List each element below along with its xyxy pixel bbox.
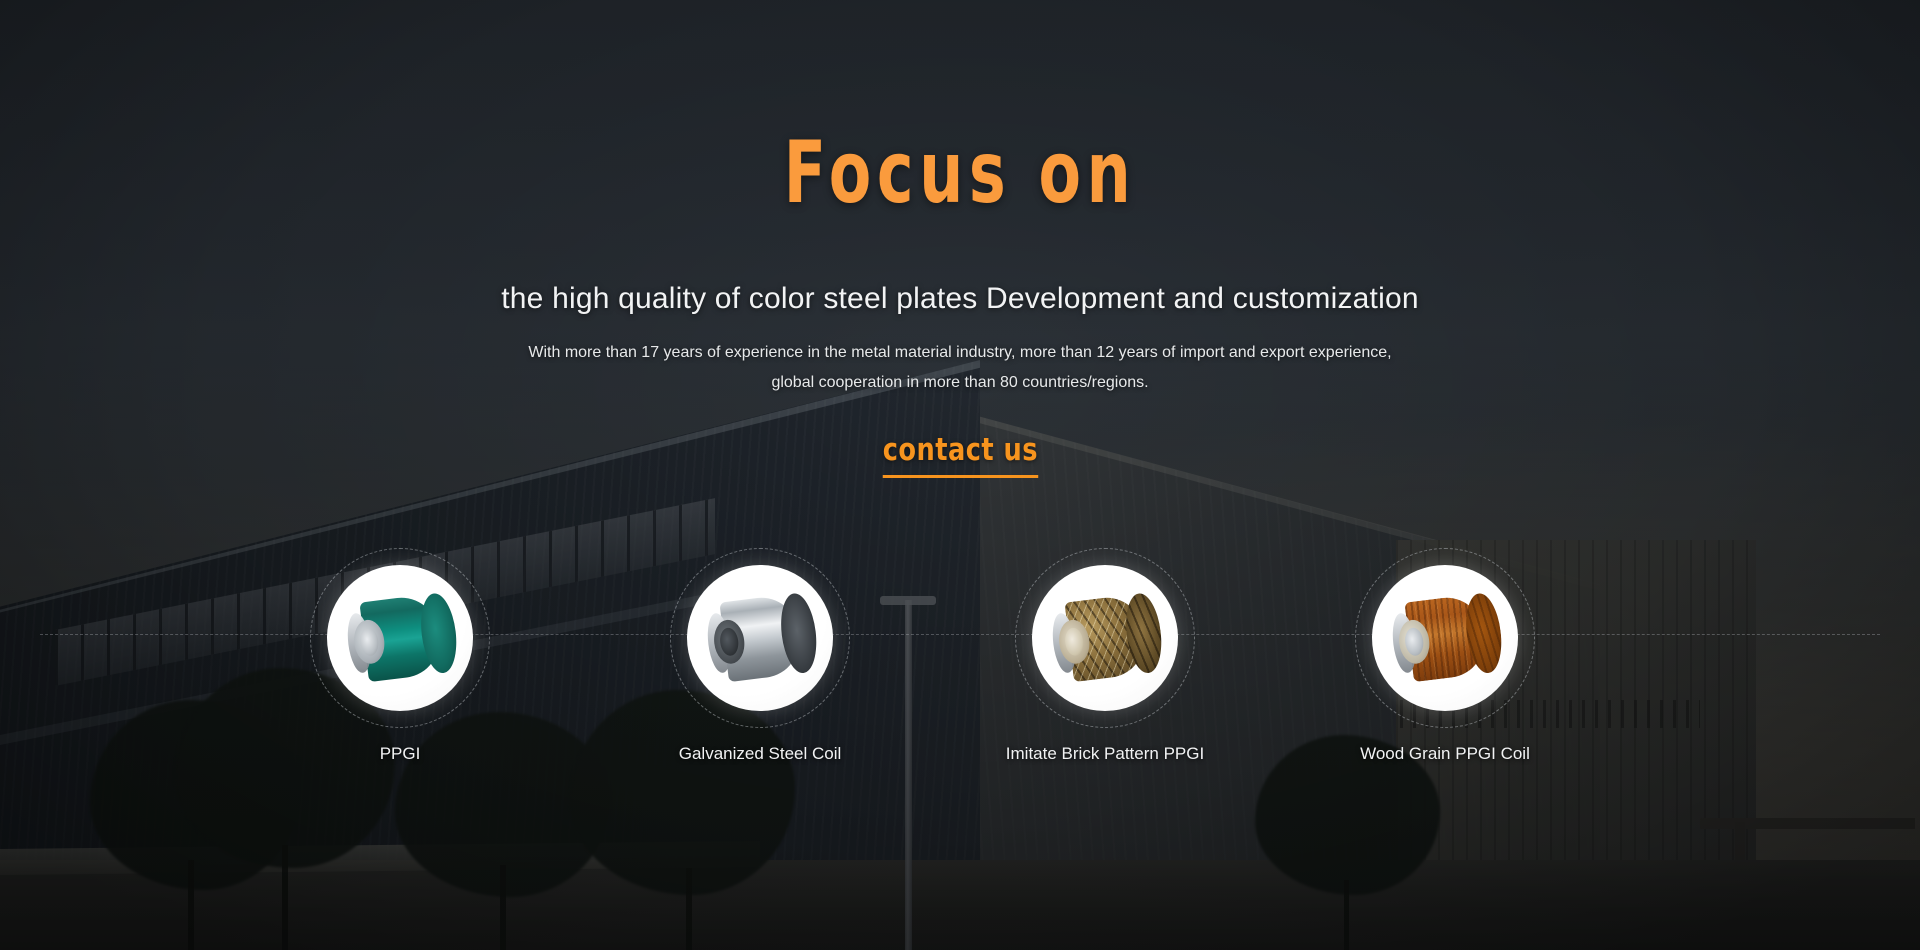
wood-grain-coil-icon bbox=[1387, 592, 1504, 685]
green-ppgi-coil-icon bbox=[342, 592, 459, 685]
product-dashed-ring bbox=[1015, 548, 1195, 728]
product-item-ppgi[interactable]: PPGI bbox=[300, 548, 500, 764]
hero-content: Focus on the high quality of color steel… bbox=[0, 0, 1920, 950]
product-dashed-ring bbox=[310, 548, 490, 728]
hero-description-line-2: global cooperation in more than 80 count… bbox=[771, 374, 1148, 391]
product-dashed-ring bbox=[1355, 548, 1535, 728]
product-dashed-ring bbox=[670, 548, 850, 728]
product-image-disc[interactable] bbox=[327, 565, 473, 711]
product-label[interactable]: Galvanized Steel Coil bbox=[660, 744, 860, 764]
product-image-disc[interactable] bbox=[1372, 565, 1518, 711]
hero-banner: Focus on the high quality of color steel… bbox=[0, 0, 1920, 950]
product-item-wood-grain-ppgi-coil[interactable]: Wood Grain PPGI Coil bbox=[1345, 548, 1545, 764]
product-item-galvanized-steel-coil[interactable]: Galvanized Steel Coil bbox=[660, 548, 860, 764]
hero-subheadline: the high quality of color steel plates D… bbox=[0, 282, 1920, 316]
contact-us-button[interactable]: contact us bbox=[882, 432, 1037, 478]
product-showcase-row: PPGI Galvanized Steel Coil bbox=[0, 548, 1920, 798]
hero-description: With more than 17 years of experience in… bbox=[450, 338, 1470, 398]
product-image-disc[interactable] bbox=[1032, 565, 1178, 711]
product-label[interactable]: Wood Grain PPGI Coil bbox=[1345, 744, 1545, 764]
product-image-disc[interactable] bbox=[687, 565, 833, 711]
product-label[interactable]: PPGI bbox=[300, 744, 500, 764]
brick-pattern-coil-icon bbox=[1047, 592, 1164, 685]
hero-description-line-1: With more than 17 years of experience in… bbox=[528, 344, 1391, 361]
hero-headline: Focus on bbox=[192, 130, 1728, 216]
galvanized-coil-icon bbox=[702, 592, 819, 685]
product-label[interactable]: Imitate Brick Pattern PPGI bbox=[1005, 744, 1205, 764]
cta-container: contact us bbox=[0, 432, 1920, 478]
product-item-imitate-brick-pattern-ppgi[interactable]: Imitate Brick Pattern PPGI bbox=[1005, 548, 1205, 764]
